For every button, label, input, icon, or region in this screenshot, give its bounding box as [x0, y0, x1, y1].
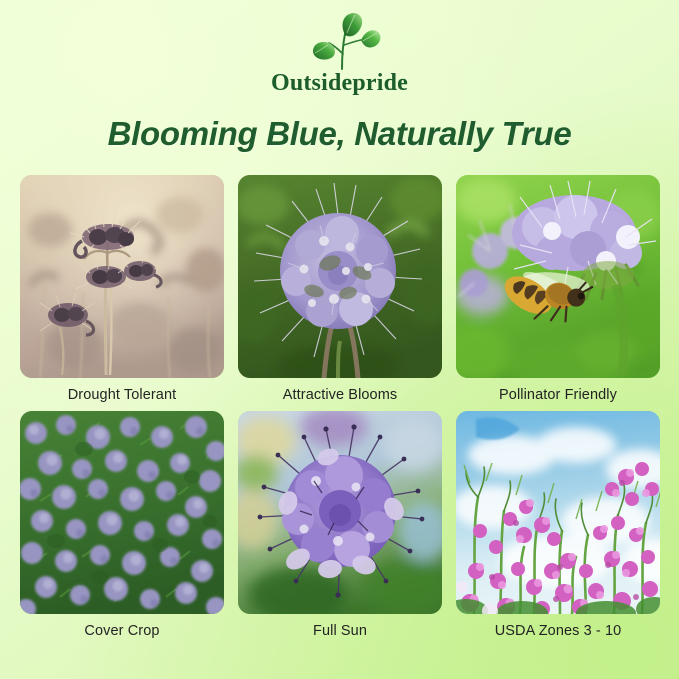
lavender-phacelia-flower-cluster-photo [238, 175, 442, 378]
photo-drought-tolerant [20, 175, 224, 378]
feature-cell-usda-zones: USDA Zones 3 - 10 [456, 411, 660, 639]
feature-cell-drought-tolerant: Drought Tolerant [20, 175, 224, 403]
photo-attractive-blooms [238, 175, 442, 378]
feature-caption: Attractive Blooms [283, 387, 398, 403]
dense-phacelia-cover-crop-field-photo [20, 411, 224, 614]
backlit-dried-phacelia-field-photo [20, 175, 224, 378]
page-title: Blooming Blue, Naturally True [108, 115, 572, 153]
feature-caption: USDA Zones 3 - 10 [495, 623, 622, 639]
brand-logo: Outsidepride [240, 12, 440, 95]
poster-header: Outsidepride Blooming Blue, Naturally Tr… [0, 0, 679, 153]
feature-caption: Pollinator Friendly [499, 387, 617, 403]
photo-pollinator-friendly [456, 175, 660, 378]
purple-phacelia-bloom-closeup-photo [238, 411, 442, 614]
photo-usda-zones [456, 411, 660, 614]
honeybee-on-phacelia-bloom-photo [456, 175, 660, 378]
feature-cell-cover-crop: Cover Crop [20, 411, 224, 639]
feature-caption: Drought Tolerant [68, 387, 177, 403]
feature-grid: Drought Tolerant [20, 175, 659, 639]
leaf-sprig-icon [295, 12, 385, 70]
feature-caption: Full Sun [313, 623, 367, 639]
brand-name: Outsidepride [271, 71, 408, 95]
feature-cell-full-sun: Full Sun [238, 411, 442, 639]
pink-wildflowers-against-blue-sky-photo [456, 411, 660, 614]
feature-caption: Cover Crop [84, 623, 159, 639]
poster-canvas: Outsidepride Blooming Blue, Naturally Tr… [0, 0, 679, 679]
feature-cell-attractive-blooms: Attractive Blooms [238, 175, 442, 403]
photo-cover-crop [20, 411, 224, 614]
feature-cell-pollinator-friendly: Pollinator Friendly [456, 175, 660, 403]
photo-full-sun [238, 411, 442, 614]
